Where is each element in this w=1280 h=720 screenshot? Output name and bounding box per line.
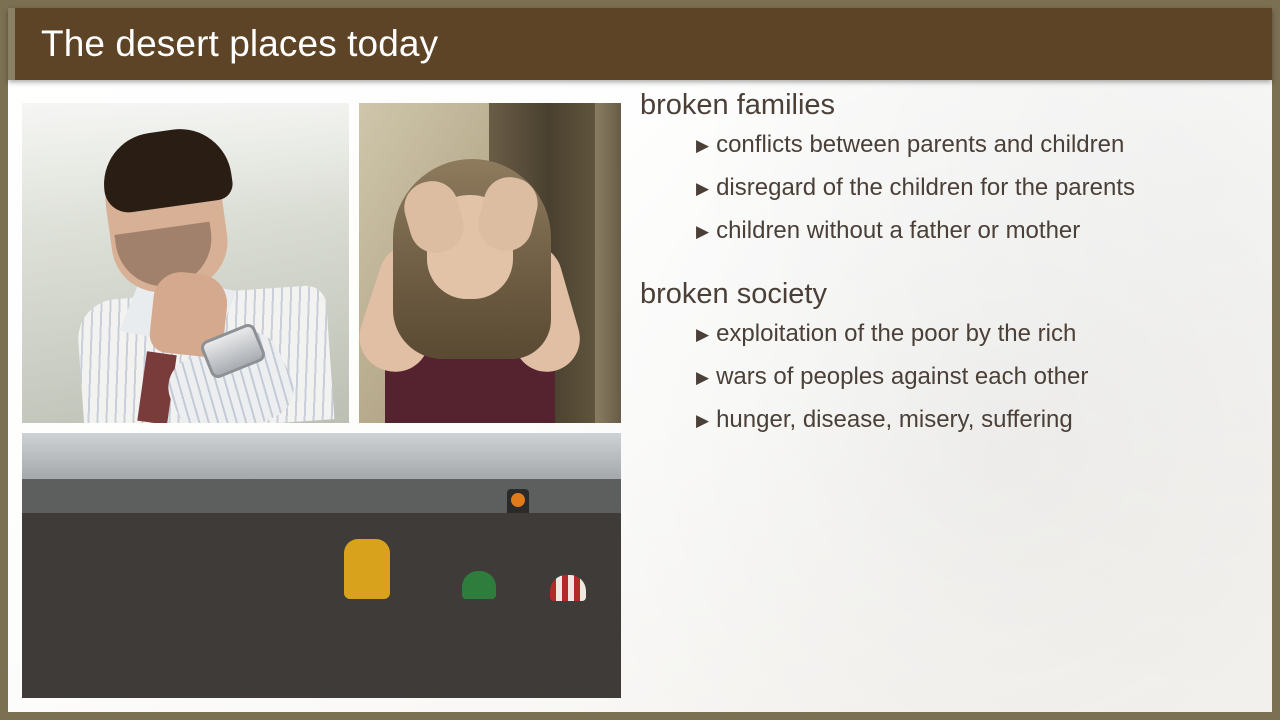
- triangle-bullet-icon: ▶: [696, 314, 709, 355]
- list-item: ▶ wars of peoples against each other: [640, 356, 1240, 399]
- title-accent-bar: [8, 8, 15, 80]
- list-item-label: children without a father or mother: [716, 210, 1080, 251]
- triangle-bullet-icon: ▶: [696, 357, 709, 398]
- overpass-structure: [22, 479, 621, 513]
- image-large-crowd-of-people: [22, 433, 621, 698]
- list-item-label: exploitation of the poor by the rich: [716, 313, 1076, 354]
- list-item: ▶ hunger, disease, misery, suffering: [640, 399, 1240, 442]
- list-item: ▶ children without a father or mother: [640, 210, 1240, 253]
- tree-branch-shape: [595, 103, 621, 423]
- green-hat-person: [462, 571, 496, 599]
- image-woman-covering-face: [359, 103, 621, 423]
- triangle-bullet-icon: ▶: [696, 211, 709, 252]
- section-heading-broken-society: broken society: [640, 277, 1240, 311]
- image-man-resting-chin-on-hand: [22, 103, 349, 423]
- list-item-label: wars of peoples against each other: [716, 356, 1088, 397]
- section-heading-broken-families: broken families: [640, 88, 1240, 122]
- content-text-column: broken families ▶ conflicts between pare…: [640, 88, 1240, 442]
- crowd-field: [22, 513, 621, 698]
- triangle-bullet-icon: ▶: [696, 168, 709, 209]
- list-item: ▶ disregard of the children for the pare…: [640, 167, 1240, 210]
- list-item-label: disregard of the children for the parent…: [716, 167, 1135, 208]
- triangle-bullet-icon: ▶: [696, 400, 709, 441]
- slide-title-bar: The desert places today: [8, 8, 1272, 80]
- striped-hat-person: [550, 575, 586, 601]
- triangle-bullet-icon: ▶: [696, 125, 709, 166]
- page-title: The desert places today: [41, 22, 438, 66]
- slide: The desert places today: [0, 0, 1280, 720]
- list-item: ▶ conflicts between parents and children: [640, 124, 1240, 167]
- list-item-label: hunger, disease, misery, suffering: [716, 399, 1073, 440]
- list-item: ▶ exploitation of the poor by the rich: [640, 313, 1240, 356]
- yellow-jacket-person: [344, 539, 390, 599]
- list-item-label: conflicts between parents and children: [716, 124, 1124, 165]
